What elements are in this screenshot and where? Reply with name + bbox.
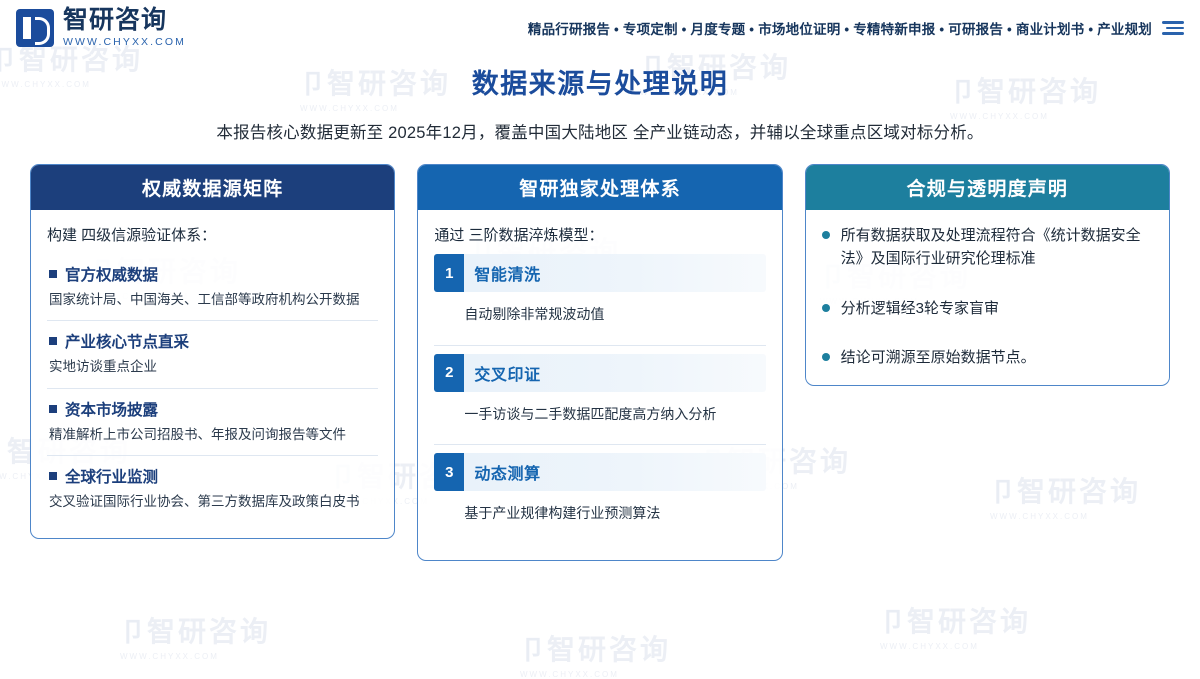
watermark: 卩智研咨询WWW.CHYXX.COM [520, 628, 671, 679]
list-item: 分析逻辑经3轮专家盲审 [822, 297, 1153, 320]
square-bullet-icon [49, 472, 57, 480]
card-lead: 构建 四级信源验证体系： [47, 224, 378, 245]
step-number: 3 [434, 453, 464, 491]
cards-row: 权威数据源矩阵 构建 四级信源验证体系： 官方权威数据 国家统计局、中国海关、工… [0, 164, 1200, 561]
square-bullet-icon [49, 270, 57, 278]
divider [434, 444, 765, 445]
list-item: 产业核心节点直采 实地访谈重点企业 [47, 321, 378, 388]
bullet-text: 分析逻辑经3轮专家盲审 [841, 297, 999, 320]
step-number: 1 [434, 254, 464, 292]
page-subtitle: 本报告核心数据更新至 2025年12月，覆盖中国大陆地区 全产业链动态，并辅以全… [0, 119, 1200, 143]
brand-name: 智研咨询 [63, 8, 186, 33]
list-item: 所有数据获取及处理流程符合《统计数据安全法》及国际行业研究伦理标准 [822, 224, 1153, 271]
item-title: 全球行业监测 [49, 465, 376, 487]
item-desc: 精准解析上市公司招股书、年报及问询报告等文件 [49, 425, 376, 445]
step-desc: 自动剔除非常规波动值 [434, 292, 765, 340]
page-header: 智研咨询 WWW.CHYXX.COM 精品行研报告 • 专项定制 • 月度专题 … [0, 0, 1200, 56]
step-item: 3 动态测算 基于产业规律构建行业预测算法 [434, 453, 765, 539]
step-desc: 基于产业规律构建行业预测算法 [434, 491, 765, 539]
step-number: 2 [434, 354, 464, 392]
card-title: 权威数据源矩阵 [31, 165, 394, 210]
list-item: 全球行业监测 交叉验证国际行业协会、第三方数据库及政策白皮书 [47, 456, 378, 522]
card-authoritative-sources: 权威数据源矩阵 构建 四级信源验证体系： 官方权威数据 国家统计局、中国海关、工… [30, 164, 395, 539]
hamburger-icon[interactable] [1162, 21, 1184, 35]
zhiyan-logo-icon [16, 9, 54, 47]
step-name: 智能清洗 [464, 254, 550, 292]
divider [434, 345, 765, 346]
brand-url: WWW.CHYXX.COM [63, 37, 186, 48]
list-item: 官方权威数据 国家统计局、中国海关、工信部等政府机构公开数据 [47, 254, 378, 321]
dot-bullet-icon [822, 304, 830, 312]
square-bullet-icon [49, 405, 57, 413]
square-bullet-icon [49, 337, 57, 345]
dot-bullet-icon [822, 353, 830, 361]
card-title: 合规与透明度声明 [806, 165, 1169, 210]
bullet-list: 所有数据获取及处理流程符合《统计数据安全法》及国际行业研究伦理标准 分析逻辑经3… [822, 224, 1153, 369]
card-processing-system: 智研独家处理体系 通过 三阶数据淬炼模型： 1 智能清洗 自动剔除非常规波动值 … [417, 164, 782, 561]
item-title: 官方权威数据 [49, 263, 376, 285]
item-desc: 实地访谈重点企业 [49, 357, 376, 377]
item-desc: 交叉验证国际行业协会、第三方数据库及政策白皮书 [49, 492, 376, 512]
bullet-text: 结论可溯源至原始数据节点。 [841, 346, 1036, 369]
watermark: 卩智研咨询WWW.CHYXX.COM [880, 600, 1031, 651]
step-name: 交叉印证 [464, 354, 550, 392]
page-title: 数据来源与处理说明 [0, 62, 1200, 101]
header-tagline: 精品行研报告 • 专项定制 • 月度专题 • 市场地位证明 • 专精特新申报 •… [528, 18, 1152, 38]
card-compliance-statement: 合规与透明度声明 所有数据获取及处理流程符合《统计数据安全法》及国际行业研究伦理… [805, 164, 1170, 386]
step-name: 动态测算 [464, 453, 550, 491]
item-title: 资本市场披露 [49, 398, 376, 420]
step-item: 1 智能清洗 自动剔除非常规波动值 [434, 254, 765, 340]
item-desc: 国家统计局、中国海关、工信部等政府机构公开数据 [49, 290, 376, 310]
card-lead: 通过 三阶数据淬炼模型： [434, 224, 765, 245]
brand[interactable]: 智研咨询 WWW.CHYXX.COM [16, 8, 186, 48]
card-title: 智研独家处理体系 [418, 165, 781, 210]
item-title: 产业核心节点直采 [49, 330, 376, 352]
list-item: 结论可溯源至原始数据节点。 [822, 346, 1153, 369]
bullet-text: 所有数据获取及处理流程符合《统计数据安全法》及国际行业研究伦理标准 [841, 224, 1153, 271]
dot-bullet-icon [822, 231, 830, 239]
step-item: 2 交叉印证 一手访谈与二手数据匹配度高方纳入分析 [434, 354, 765, 440]
watermark: 卩智研咨询WWW.CHYXX.COM [120, 610, 271, 661]
list-item: 资本市场披露 精准解析上市公司招股书、年报及问询报告等文件 [47, 389, 378, 456]
step-desc: 一手访谈与二手数据匹配度高方纳入分析 [434, 392, 765, 440]
